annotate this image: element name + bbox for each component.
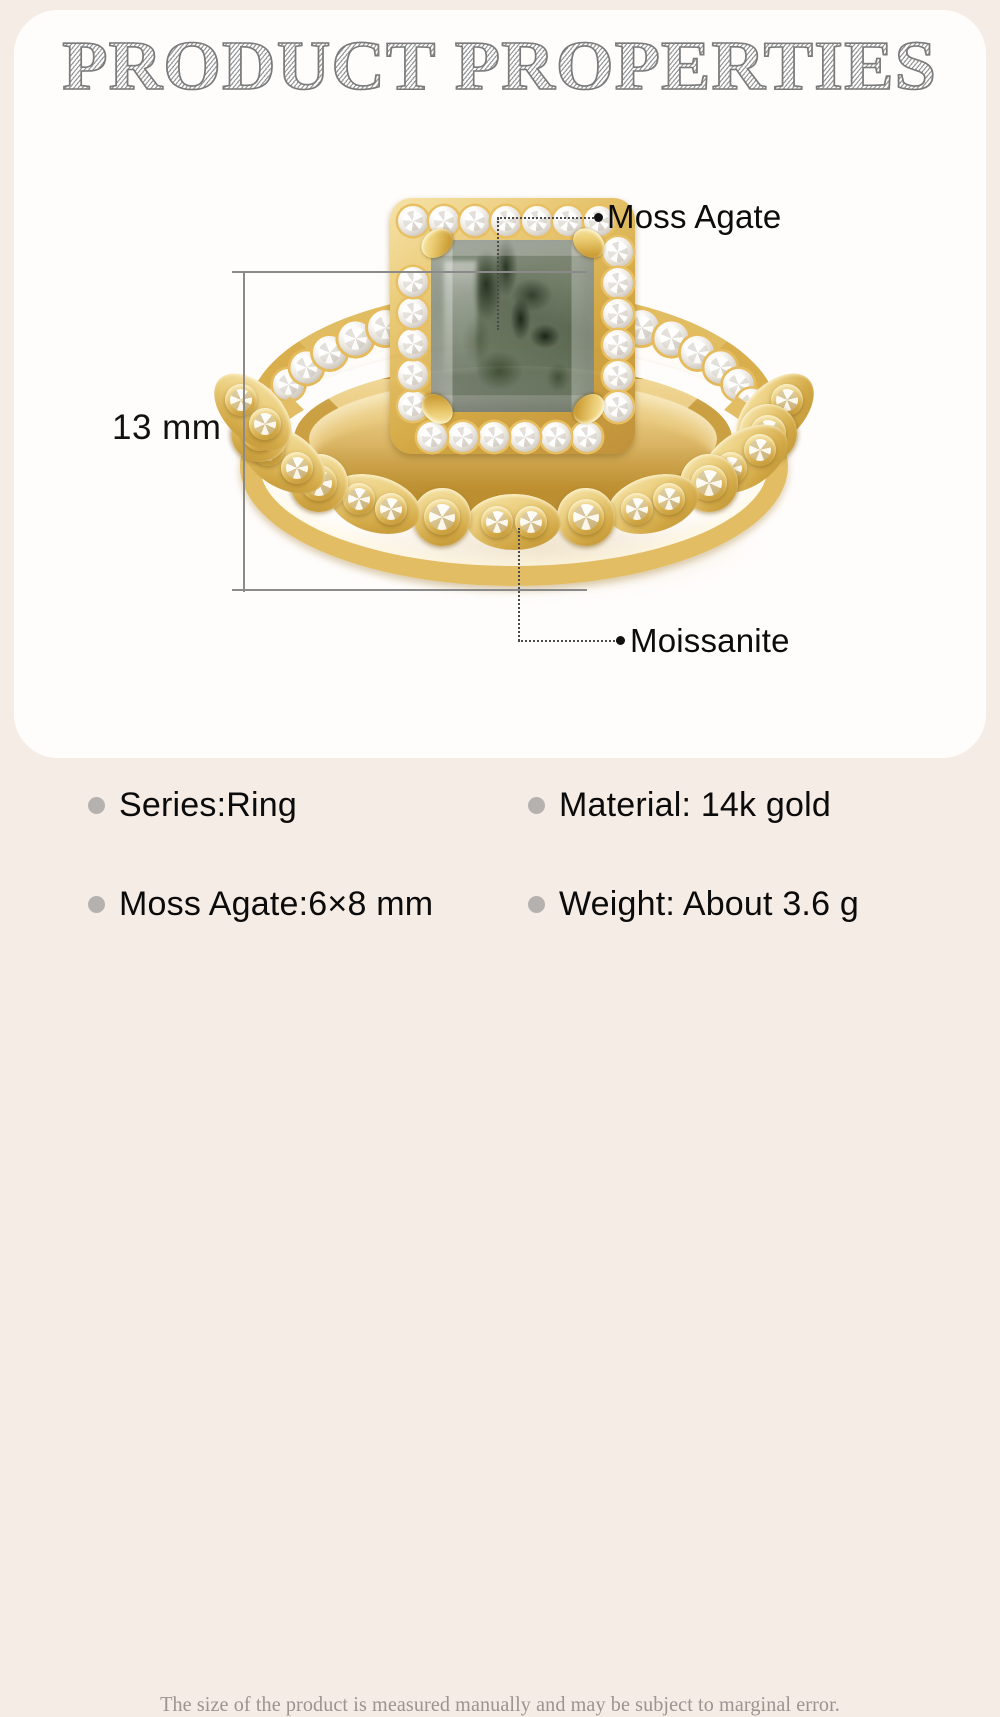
spec-label: Material: 14k gold <box>559 786 831 825</box>
dimension-tick-bottom <box>232 589 587 591</box>
leader-line-horizontal <box>518 640 618 642</box>
spec-label: Series:Ring <box>119 786 297 825</box>
product-properties-page: PRODUCT PROPERTIES <box>0 0 1000 1000</box>
spec-item: Series:Ring <box>88 786 528 825</box>
bullet-icon <box>88 797 105 814</box>
leader-line-vertical <box>518 528 520 641</box>
spec-item: Weight: About 3.6 g <box>528 885 948 924</box>
disclaimer-text: The size of the product is measured manu… <box>20 1692 980 1717</box>
callout-label-moss-agate: Moss Agate <box>607 198 781 236</box>
leader-line-vertical <box>497 218 499 330</box>
leader-line-horizontal <box>497 217 597 219</box>
leader-dot <box>594 213 603 222</box>
spec-item: Moss Agate:6×8 mm <box>88 885 528 924</box>
dimension-tick-top <box>232 271 587 273</box>
bullet-icon <box>88 896 105 913</box>
spec-item: Material: 14k gold <box>528 786 948 825</box>
callout-label-moissanite: Moissanite <box>630 622 790 660</box>
dimension-label: 13 mm <box>112 408 221 448</box>
spec-label: Moss Agate:6×8 mm <box>119 885 433 924</box>
bullet-icon <box>528 797 545 814</box>
specifications-grid: Series:RingMaterial: 14k goldMoss Agate:… <box>88 786 948 924</box>
spec-label: Weight: About 3.6 g <box>559 885 859 924</box>
specifications-panel: Series:RingMaterial: 14k goldMoss Agate:… <box>0 762 1000 1000</box>
bullet-icon <box>528 896 545 913</box>
leader-dot <box>616 636 625 645</box>
dimension-line <box>243 272 245 592</box>
